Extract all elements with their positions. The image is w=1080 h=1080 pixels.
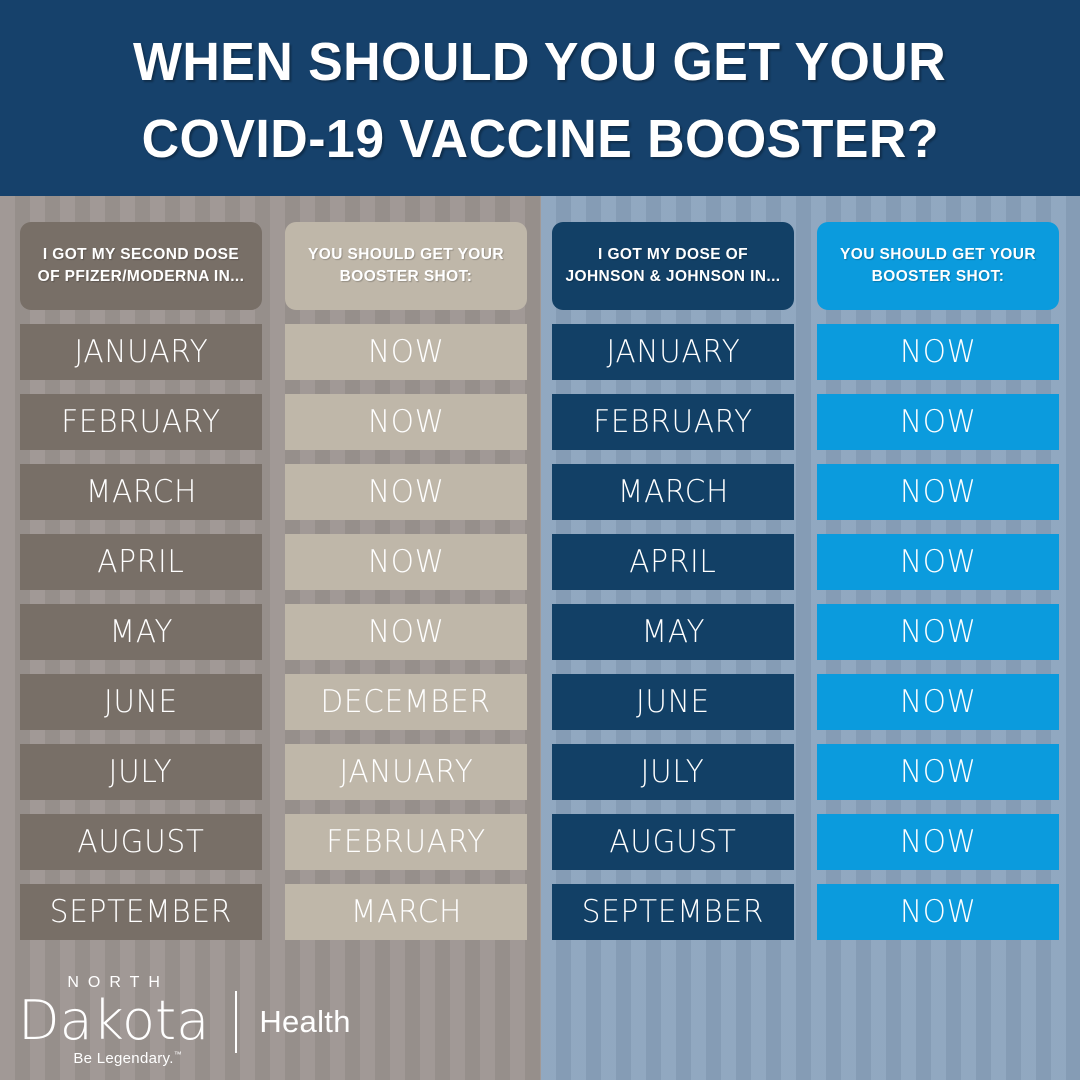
header-pfizer-moderna-booster-label: YOU SHOULD GET YOUR BOOSTER SHOT: [297, 244, 515, 288]
title-line-1: WHEN SHOULD YOU GET YOUR [133, 24, 946, 101]
cell-value: JULY [641, 754, 705, 790]
cell-value: NOW [900, 894, 977, 930]
header-pfizer-moderna-dose-label: I GOT MY SECOND DOSE OF PFIZER/MODERNA I… [32, 244, 250, 288]
cell-value: APRIL [97, 544, 184, 580]
table-row: FEBRUARY [285, 814, 527, 870]
cell-value: AUGUST [77, 824, 204, 860]
cell-value: APRIL [629, 544, 716, 580]
table-row: MAY [552, 604, 794, 660]
table-row: AUGUST [552, 814, 794, 870]
table-row: NOW [817, 744, 1059, 800]
logo-divider [235, 991, 237, 1053]
cell-value: NOW [900, 544, 977, 580]
table-row: FEBRUARY [552, 394, 794, 450]
header-pfizer-moderna-booster: YOU SHOULD GET YOUR BOOSTER SHOT: [285, 222, 527, 310]
cell-value: DECEMBER [321, 684, 491, 720]
table-row: FEBRUARY [20, 394, 262, 450]
table-row: JULY [552, 744, 794, 800]
table-row: SEPTEMBER [552, 884, 794, 940]
column-johnson-johnson-booster: YOU SHOULD GET YOUR BOOSTER SHOT: NOW NO… [817, 222, 1059, 940]
table-row: MARCH [20, 464, 262, 520]
logo-wordmark: NORTH Dakota Be Legendary.™ [18, 975, 209, 1066]
title-line-2: COVID-19 VACCINE BOOSTER? [141, 101, 938, 178]
table-row: NOW [817, 814, 1059, 870]
column-johnson-johnson-month: I GOT MY DOSE OF JOHNSON & JOHNSON IN...… [552, 222, 794, 940]
cell-value: NOW [900, 824, 977, 860]
cell-value: MAY [109, 614, 173, 650]
cell-value: MARCH [85, 474, 196, 510]
table-row: MARCH [552, 464, 794, 520]
cell-value: NOW [900, 404, 977, 440]
cell-value: NOW [368, 404, 445, 440]
table-row: NOW [285, 394, 527, 450]
logo-division-text: Health [259, 1004, 350, 1040]
cell-value: MAY [641, 614, 705, 650]
table-row: NOW [285, 604, 527, 660]
table-row: AUGUST [20, 814, 262, 870]
cell-value: JUNE [636, 684, 710, 720]
logo-tagline: Be Legendary.™ [73, 1051, 182, 1066]
column-pfizer-moderna-month: I GOT MY SECOND DOSE OF PFIZER/MODERNA I… [20, 222, 262, 940]
table-row: NOW [817, 674, 1059, 730]
table-row: JULY [20, 744, 262, 800]
table-row: NOW [817, 534, 1059, 590]
table-row: DECEMBER [285, 674, 527, 730]
header-johnson-johnson-booster-label: YOU SHOULD GET YOUR BOOSTER SHOT: [829, 244, 1047, 288]
cell-value: NOW [900, 754, 977, 790]
cell-value: NOW [900, 334, 977, 370]
column-pfizer-moderna-booster: YOU SHOULD GET YOUR BOOSTER SHOT: NOW NO… [285, 222, 527, 940]
cell-value: NOW [368, 334, 445, 370]
booster-schedule-tables: I GOT MY SECOND DOSE OF PFIZER/MODERNA I… [0, 196, 1080, 1080]
table-row: NOW [817, 884, 1059, 940]
infographic-poster: WHEN SHOULD YOU GET YOUR COVID-19 VACCIN… [0, 0, 1080, 1080]
header-pfizer-moderna-dose: I GOT MY SECOND DOSE OF PFIZER/MODERNA I… [20, 222, 262, 310]
cell-value: AUGUST [609, 824, 736, 860]
table-row: NOW [817, 394, 1059, 450]
cell-value: JANUARY [339, 754, 473, 790]
cell-value: NOW [368, 544, 445, 580]
table-row: NOW [285, 464, 527, 520]
table-row: APRIL [552, 534, 794, 590]
cell-value: JANUARY [606, 334, 740, 370]
table-row: NOW [817, 604, 1059, 660]
logo-tagline-text: Be Legendary. [73, 1050, 173, 1067]
north-dakota-health-logo: NORTH Dakota Be Legendary.™ Health [18, 975, 351, 1066]
table-row: JANUARY [285, 744, 527, 800]
cell-value: FEBRUARY [593, 404, 753, 440]
table-row: APRIL [20, 534, 262, 590]
cell-value: JULY [109, 754, 173, 790]
cell-value: NOW [368, 614, 445, 650]
table-row: SEPTEMBER [20, 884, 262, 940]
header-johnson-johnson-dose-label: I GOT MY DOSE OF JOHNSON & JOHNSON IN... [564, 244, 782, 288]
cell-value: SEPTEMBER [582, 894, 764, 930]
header-johnson-johnson-booster: YOU SHOULD GET YOUR BOOSTER SHOT: [817, 222, 1059, 310]
table-row: MAY [20, 604, 262, 660]
table-row: JUNE [552, 674, 794, 730]
cell-value: JUNE [104, 684, 178, 720]
table-row: JUNE [20, 674, 262, 730]
cell-value: NOW [900, 614, 977, 650]
table-row: JANUARY [552, 324, 794, 380]
cell-value: MARCH [617, 474, 728, 510]
table-row: NOW [285, 324, 527, 380]
table-row: NOW [817, 464, 1059, 520]
title-banner: WHEN SHOULD YOU GET YOUR COVID-19 VACCIN… [0, 0, 1080, 196]
cell-value: FEBRUARY [326, 824, 486, 860]
cell-value: MARCH [350, 894, 461, 930]
cell-value: NOW [368, 474, 445, 510]
table-row: JANUARY [20, 324, 262, 380]
table-row: NOW [285, 534, 527, 590]
cell-value: FEBRUARY [61, 404, 221, 440]
cell-value: SEPTEMBER [50, 894, 232, 930]
header-johnson-johnson-dose: I GOT MY DOSE OF JOHNSON & JOHNSON IN... [552, 222, 794, 310]
cell-value: NOW [900, 684, 977, 720]
table-row: NOW [817, 324, 1059, 380]
cell-value: JANUARY [74, 334, 208, 370]
logo-dakota-text: Dakota [18, 993, 209, 1048]
cell-value: NOW [900, 474, 977, 510]
trademark-symbol: ™ [174, 1050, 182, 1059]
table-row: MARCH [285, 884, 527, 940]
